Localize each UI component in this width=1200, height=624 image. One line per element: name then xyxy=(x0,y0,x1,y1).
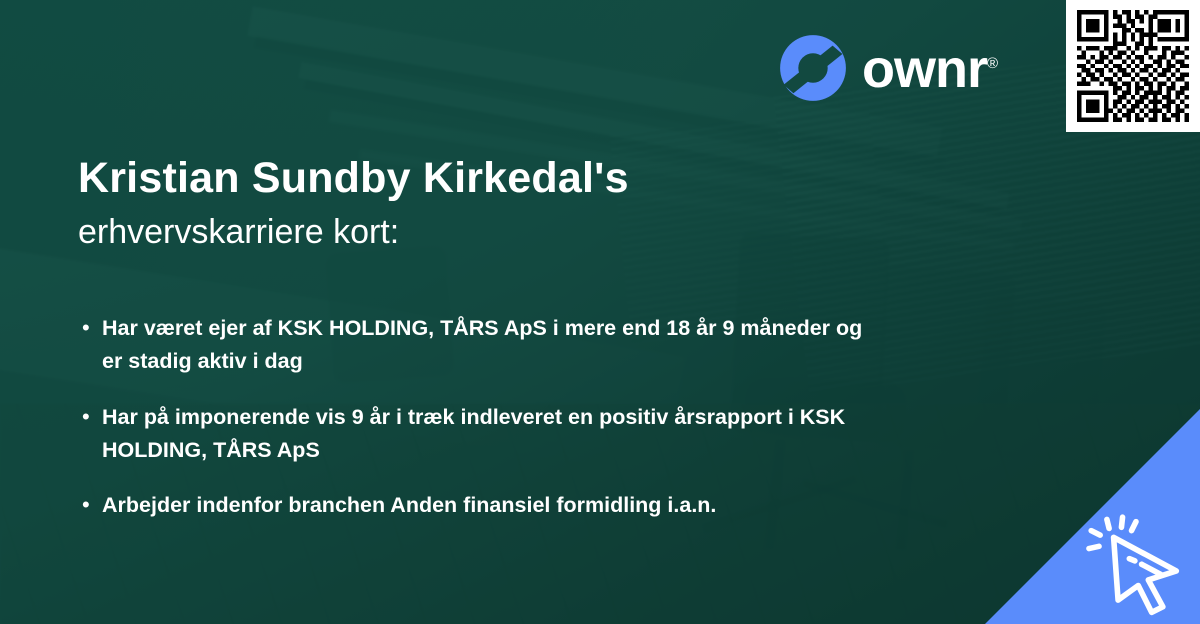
title-line-1: Kristian Sundby Kirkedal's xyxy=(78,152,978,204)
qr-code[interactable] xyxy=(1066,0,1200,132)
promo-card: Kristian Sundby Kirkedal's erhvervskarri… xyxy=(0,0,1200,624)
career-highlights-list: • Har været ejer af KSK HOLDING, TÅRS Ap… xyxy=(78,312,978,545)
title-line-2: erhvervskarriere kort: xyxy=(78,210,978,254)
list-item-text: Arbejder indenfor branchen Anden finansi… xyxy=(102,489,716,522)
click-cursor-icon xyxy=(1080,506,1192,618)
bullet-marker-icon: • xyxy=(78,401,102,433)
ownr-wordmark-text: ownr xyxy=(862,39,987,99)
ownr-logo[interactable]: ownr® xyxy=(778,32,1028,104)
qr-code-image xyxy=(1077,10,1189,122)
list-item-text: Har været ejer af KSK HOLDING, TÅRS ApS … xyxy=(102,312,882,379)
registered-trademark-icon: ® xyxy=(987,55,998,72)
list-item: • Arbejder indenfor branchen Anden finan… xyxy=(78,489,978,522)
page-title: Kristian Sundby Kirkedal's erhvervskarri… xyxy=(78,152,978,255)
bullet-marker-icon: • xyxy=(78,489,102,521)
ownr-mark-icon xyxy=(778,33,848,103)
ownr-wordmark: ownr® xyxy=(862,42,998,96)
list-item: • Har på imponerende vis 9 år i træk ind… xyxy=(78,401,978,468)
bullet-marker-icon: • xyxy=(78,312,102,344)
list-item: • Har været ejer af KSK HOLDING, TÅRS Ap… xyxy=(78,312,978,379)
list-item-text: Har på imponerende vis 9 år i træk indle… xyxy=(102,401,882,468)
